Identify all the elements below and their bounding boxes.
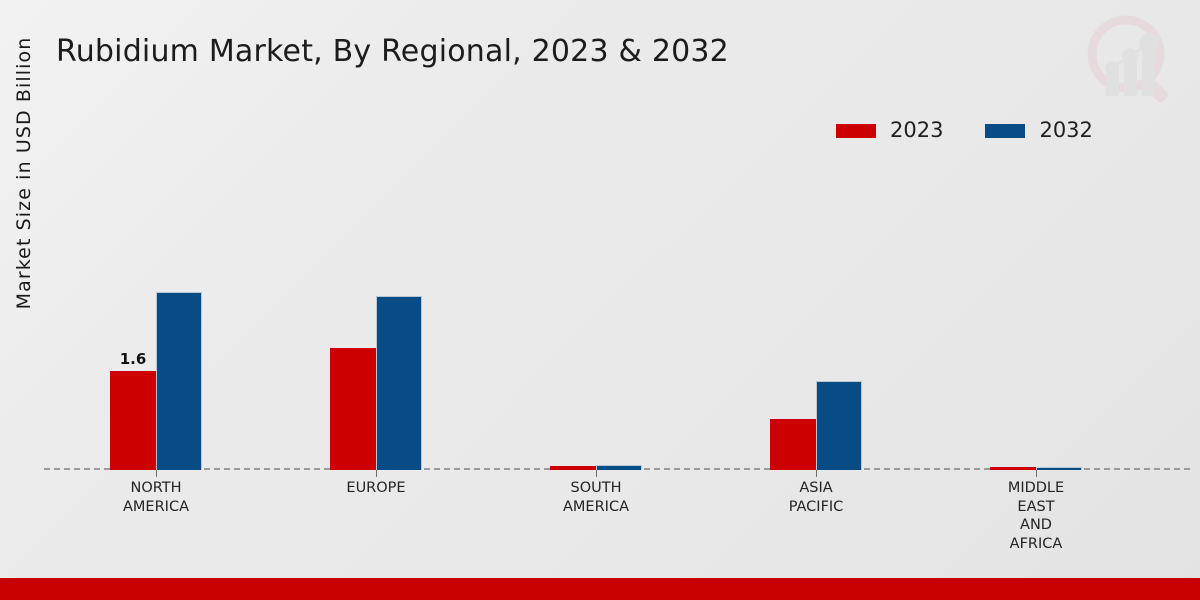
bar-pair [550, 110, 642, 470]
bar-2032[interactable] [1036, 467, 1082, 470]
bar-value-label: 1.6 [120, 350, 147, 368]
x-axis-tick [816, 470, 817, 477]
bar-pair [990, 110, 1082, 470]
x-axis-category-label: NORTHAMERICA [91, 479, 221, 516]
bar-pair [330, 110, 422, 470]
chart-canvas: Rubidium Market, By Regional, 2023 & 203… [0, 0, 1200, 600]
bar-2023[interactable] [330, 348, 376, 470]
bar-2032[interactable] [816, 381, 862, 470]
plot-area: 1.6NORTHAMERICAEUROPESOUTHAMERICAASIAPAC… [44, 110, 1190, 470]
bar-2023[interactable] [550, 466, 596, 470]
bar-2032[interactable] [156, 292, 202, 470]
y-axis-title: Market Size in USD Billion [13, 3, 35, 343]
page-title: Rubidium Market, By Regional, 2023 & 203… [56, 34, 729, 69]
bar-2023[interactable] [990, 467, 1036, 470]
bar-pair [770, 110, 862, 470]
x-axis-tick [376, 470, 377, 477]
x-axis-category-label: SOUTHAMERICA [531, 479, 661, 516]
bar-2023[interactable]: 1.6 [110, 371, 156, 470]
bar-2032[interactable] [376, 296, 422, 470]
watermark-logo-icon [1080, 8, 1184, 112]
x-axis-category-label: EUROPE [311, 479, 441, 498]
x-axis-category-label: ASIAPACIFIC [751, 479, 881, 516]
x-axis-category-label: MIDDLEEASTANDAFRICA [971, 479, 1101, 553]
bottom-accent-strip [0, 578, 1200, 600]
bar-2032[interactable] [596, 465, 642, 470]
x-axis-tick [156, 470, 157, 477]
x-axis-tick [596, 470, 597, 477]
x-axis-tick [1036, 470, 1037, 477]
bar-pair: 1.6 [110, 110, 202, 470]
bar-2023[interactable] [770, 419, 816, 470]
